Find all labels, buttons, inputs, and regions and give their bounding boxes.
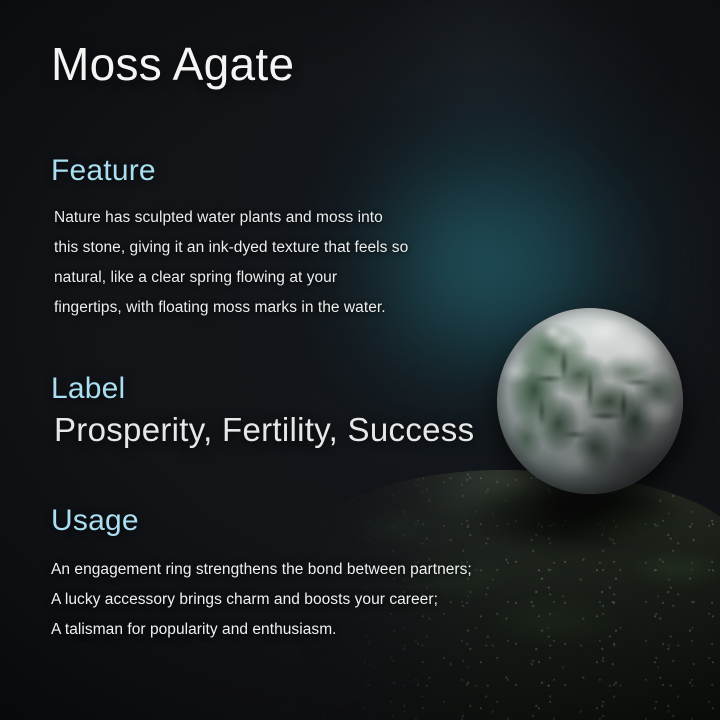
page-title: Moss Agate — [51, 41, 294, 87]
usage-line: A lucky accessory brings charm and boost… — [51, 585, 472, 615]
usage-line: An engagement ring strengthens the bond … — [51, 555, 472, 585]
usage-body: An engagement ring strengthens the bond … — [51, 555, 472, 645]
product-info-poster: Moss Agate Feature Nature has sculpted w… — [0, 0, 720, 720]
section-heading-label: Label — [51, 373, 474, 405]
usage-line: A talisman for popularity and enthusiasm… — [51, 615, 472, 645]
feature-body: Nature has sculpted water plants and mos… — [51, 203, 408, 323]
label-value: Prosperity, Fertility, Success — [51, 411, 474, 450]
section-label: Label Prosperity, Fertility, Success — [51, 373, 474, 450]
feature-line: Nature has sculpted water plants and mos… — [54, 203, 408, 233]
feature-line: fingertips, with floating moss marks in … — [54, 293, 408, 323]
section-heading-usage: Usage — [51, 505, 472, 537]
section-feature: Feature Nature has sculpted water plants… — [51, 155, 408, 323]
section-usage: Usage An engagement ring strengthens the… — [51, 505, 472, 645]
section-heading-feature: Feature — [51, 155, 408, 187]
feature-line: this stone, giving it an ink-dyed textur… — [54, 233, 408, 263]
content-column: Moss Agate Feature Nature has sculpted w… — [0, 0, 720, 720]
feature-line: natural, like a clear spring flowing at … — [54, 263, 408, 293]
